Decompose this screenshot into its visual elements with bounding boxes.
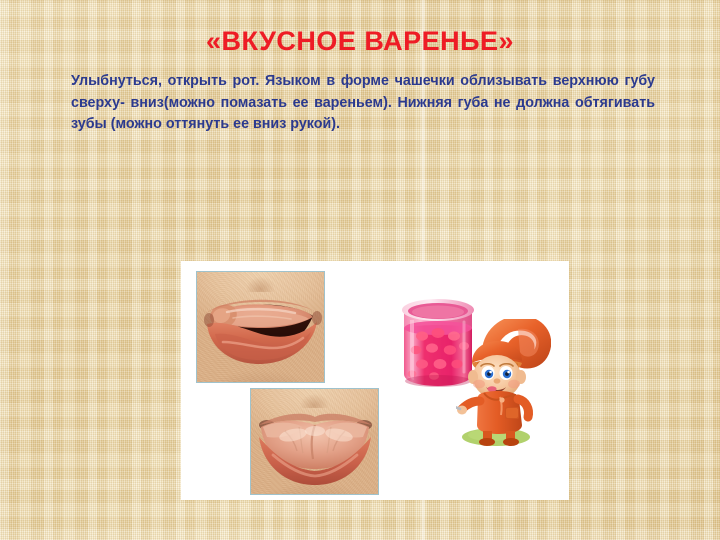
photo-tongue-to-upper-lip: [196, 271, 325, 383]
gnome-illustration: [456, 319, 551, 449]
picture-panel: [181, 261, 569, 500]
slide-canvas: «ВКУСНОЕ ВАРЕНЬЕ» Улыбнуться, открыть ро…: [0, 0, 720, 540]
photo-tongue-cup-shape: [250, 388, 379, 495]
mouth-illustration-bottom: [251, 389, 379, 495]
instruction-text: Улыбнуться, открыть рот. Языком в форме …: [71, 71, 655, 136]
mouth-illustration-top: [197, 272, 325, 383]
page-title: «ВКУСНОЕ ВАРЕНЬЕ»: [0, 26, 720, 57]
